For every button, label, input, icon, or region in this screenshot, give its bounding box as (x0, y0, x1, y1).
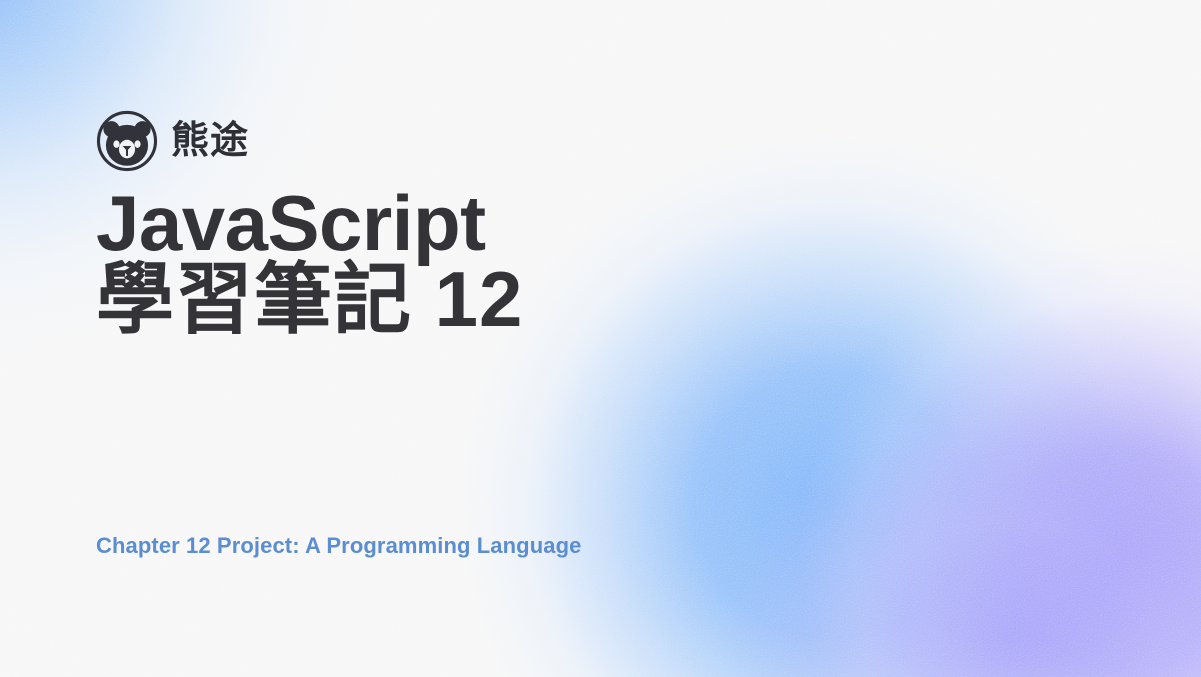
brand-lockup: 熊途 (96, 110, 249, 172)
title-line-2: 學習筆記 12 (96, 261, 736, 337)
title-line-1: JavaScript (96, 185, 736, 261)
slide-subtitle: Chapter 12 Project: A Programming Langua… (96, 533, 581, 559)
title-slide: 熊途 JavaScript 學習筆記 12 Chapter 12 Project… (0, 0, 1201, 677)
brand-name: 熊途 (171, 122, 249, 160)
bear-face-icon (96, 110, 158, 172)
slide-content: 熊途 JavaScript 學習筆記 12 Chapter 12 Project… (96, 0, 796, 677)
page-title: JavaScript 學習筆記 12 (96, 185, 736, 338)
